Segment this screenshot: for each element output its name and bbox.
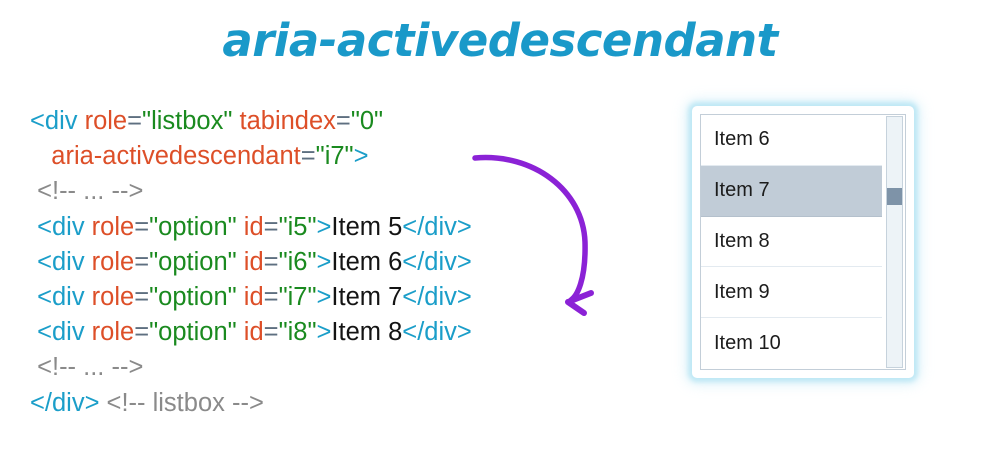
- code-token-vl: "i7": [316, 142, 354, 170]
- code-token-at: role: [85, 107, 128, 135]
- code-token-tg: </div>: [30, 389, 99, 417]
- code-token-eq: =: [134, 213, 149, 241]
- listbox-option[interactable]: Item 9: [701, 267, 882, 318]
- page-title: aria-activedescendant: [0, 14, 1000, 67]
- code-line: <div role="option" id="i7">Item 7</div>: [30, 280, 650, 315]
- listbox-option-label: Item 7: [714, 179, 770, 202]
- code-token-tg: <div: [30, 107, 85, 135]
- listbox-option[interactable]: Item 8: [701, 217, 882, 268]
- code-token-tg: [237, 248, 244, 276]
- code-line: <!-- ... -->: [30, 174, 650, 209]
- code-token-tx: Item 8: [331, 318, 402, 346]
- code-line: <div role="option" id="i6">Item 6</div>: [30, 245, 650, 280]
- code-token-tg: [237, 213, 244, 241]
- code-line: aria-activedescendant="i7">: [30, 139, 650, 174]
- code-token-cm: <!-- listbox -->: [99, 389, 263, 417]
- code-token-vl: "listbox": [142, 107, 232, 135]
- code-token-eq: =: [264, 213, 279, 241]
- code-token-tg: >: [317, 248, 332, 276]
- code-token-at: id: [244, 248, 264, 276]
- listbox-widget: Item 6Item 7Item 8Item 9Item 10: [692, 106, 914, 378]
- code-token-tx: Item 5: [331, 213, 402, 241]
- listbox-option-label: Item 6: [714, 128, 770, 151]
- code-token-tg: [232, 107, 239, 135]
- code-token-eq: =: [264, 248, 279, 276]
- code-token-tg: <div: [37, 213, 92, 241]
- code-token-tg: </div>: [402, 213, 471, 241]
- code-token-vl: "i5": [279, 213, 317, 241]
- code-token-eq: =: [336, 107, 351, 135]
- code-token-tg: [237, 283, 244, 311]
- code-line: <div role="option" id="i5">Item 5</div>: [30, 210, 650, 245]
- listbox-option[interactable]: Item 6: [701, 115, 882, 166]
- code-token-tg: >: [317, 283, 332, 311]
- code-token-tg: </div>: [402, 283, 471, 311]
- listbox-option-label: Item 10: [714, 332, 781, 355]
- code-token-at: role: [92, 213, 135, 241]
- code-token-vl: "i8": [279, 318, 317, 346]
- code-token-at: tabindex: [240, 107, 336, 135]
- code-token-vl: "0": [351, 107, 383, 135]
- code-token-eq: =: [301, 142, 316, 170]
- code-token-tg: >: [317, 318, 332, 346]
- code-token-at: aria-activedescendant: [51, 142, 300, 170]
- slide-canvas: aria-activedescendant <div role="listbox…: [0, 0, 1000, 462]
- code-token-tg: <div: [37, 318, 92, 346]
- listbox-option-label: Item 9: [714, 281, 770, 304]
- code-snippet: <div role="listbox" tabindex="0" aria-ac…: [30, 104, 650, 421]
- code-token-eq: =: [134, 248, 149, 276]
- code-token-vl: "option": [149, 318, 237, 346]
- scrollbar-track[interactable]: [886, 116, 903, 368]
- code-token-at: id: [244, 283, 264, 311]
- code-token-tg: </div>: [402, 318, 471, 346]
- code-line: <!-- ... -->: [30, 350, 650, 385]
- scrollbar[interactable]: [882, 115, 905, 369]
- code-token-tg: <div: [37, 283, 92, 311]
- code-line: <div role="option" id="i8">Item 8</div>: [30, 315, 650, 350]
- code-token-cm: <!-- ... -->: [37, 353, 143, 381]
- code-token-vl: "i6": [279, 248, 317, 276]
- code-token-eq: =: [264, 318, 279, 346]
- code-token-eq: =: [134, 283, 149, 311]
- scrollbar-thumb[interactable]: [887, 188, 902, 205]
- code-token-eq: =: [134, 318, 149, 346]
- code-token-vl: "option": [149, 248, 237, 276]
- code-token-tx: Item 6: [331, 248, 402, 276]
- option-list: Item 6Item 7Item 8Item 9Item 10: [701, 115, 882, 369]
- code-token-at: role: [92, 318, 135, 346]
- listbox-option[interactable]: Item 7: [701, 166, 882, 217]
- code-token-tg: [237, 318, 244, 346]
- code-token-vl: "option": [149, 213, 237, 241]
- code-token-tg: >: [354, 142, 369, 170]
- code-token-at: id: [244, 213, 264, 241]
- code-token-vl: "option": [149, 283, 237, 311]
- code-token-at: role: [92, 283, 135, 311]
- code-token-tg: </div>: [402, 248, 471, 276]
- code-line: <div role="listbox" tabindex="0": [30, 104, 650, 139]
- code-line: </div> <!-- listbox -->: [30, 386, 650, 421]
- code-token-cm: <!-- ... -->: [37, 177, 143, 205]
- code-token-tx: Item 7: [331, 283, 402, 311]
- code-token-tg: <div: [37, 248, 92, 276]
- code-token-at: id: [244, 318, 264, 346]
- code-token-eq: =: [127, 107, 142, 135]
- code-token-tg: >: [317, 213, 332, 241]
- listbox-role-listbox[interactable]: Item 6Item 7Item 8Item 9Item 10: [700, 114, 906, 370]
- listbox-option[interactable]: Item 10: [701, 318, 882, 369]
- listbox-option-label: Item 8: [714, 230, 770, 253]
- code-token-eq: =: [264, 283, 279, 311]
- code-token-vl: "i7": [279, 283, 317, 311]
- code-token-at: role: [92, 248, 135, 276]
